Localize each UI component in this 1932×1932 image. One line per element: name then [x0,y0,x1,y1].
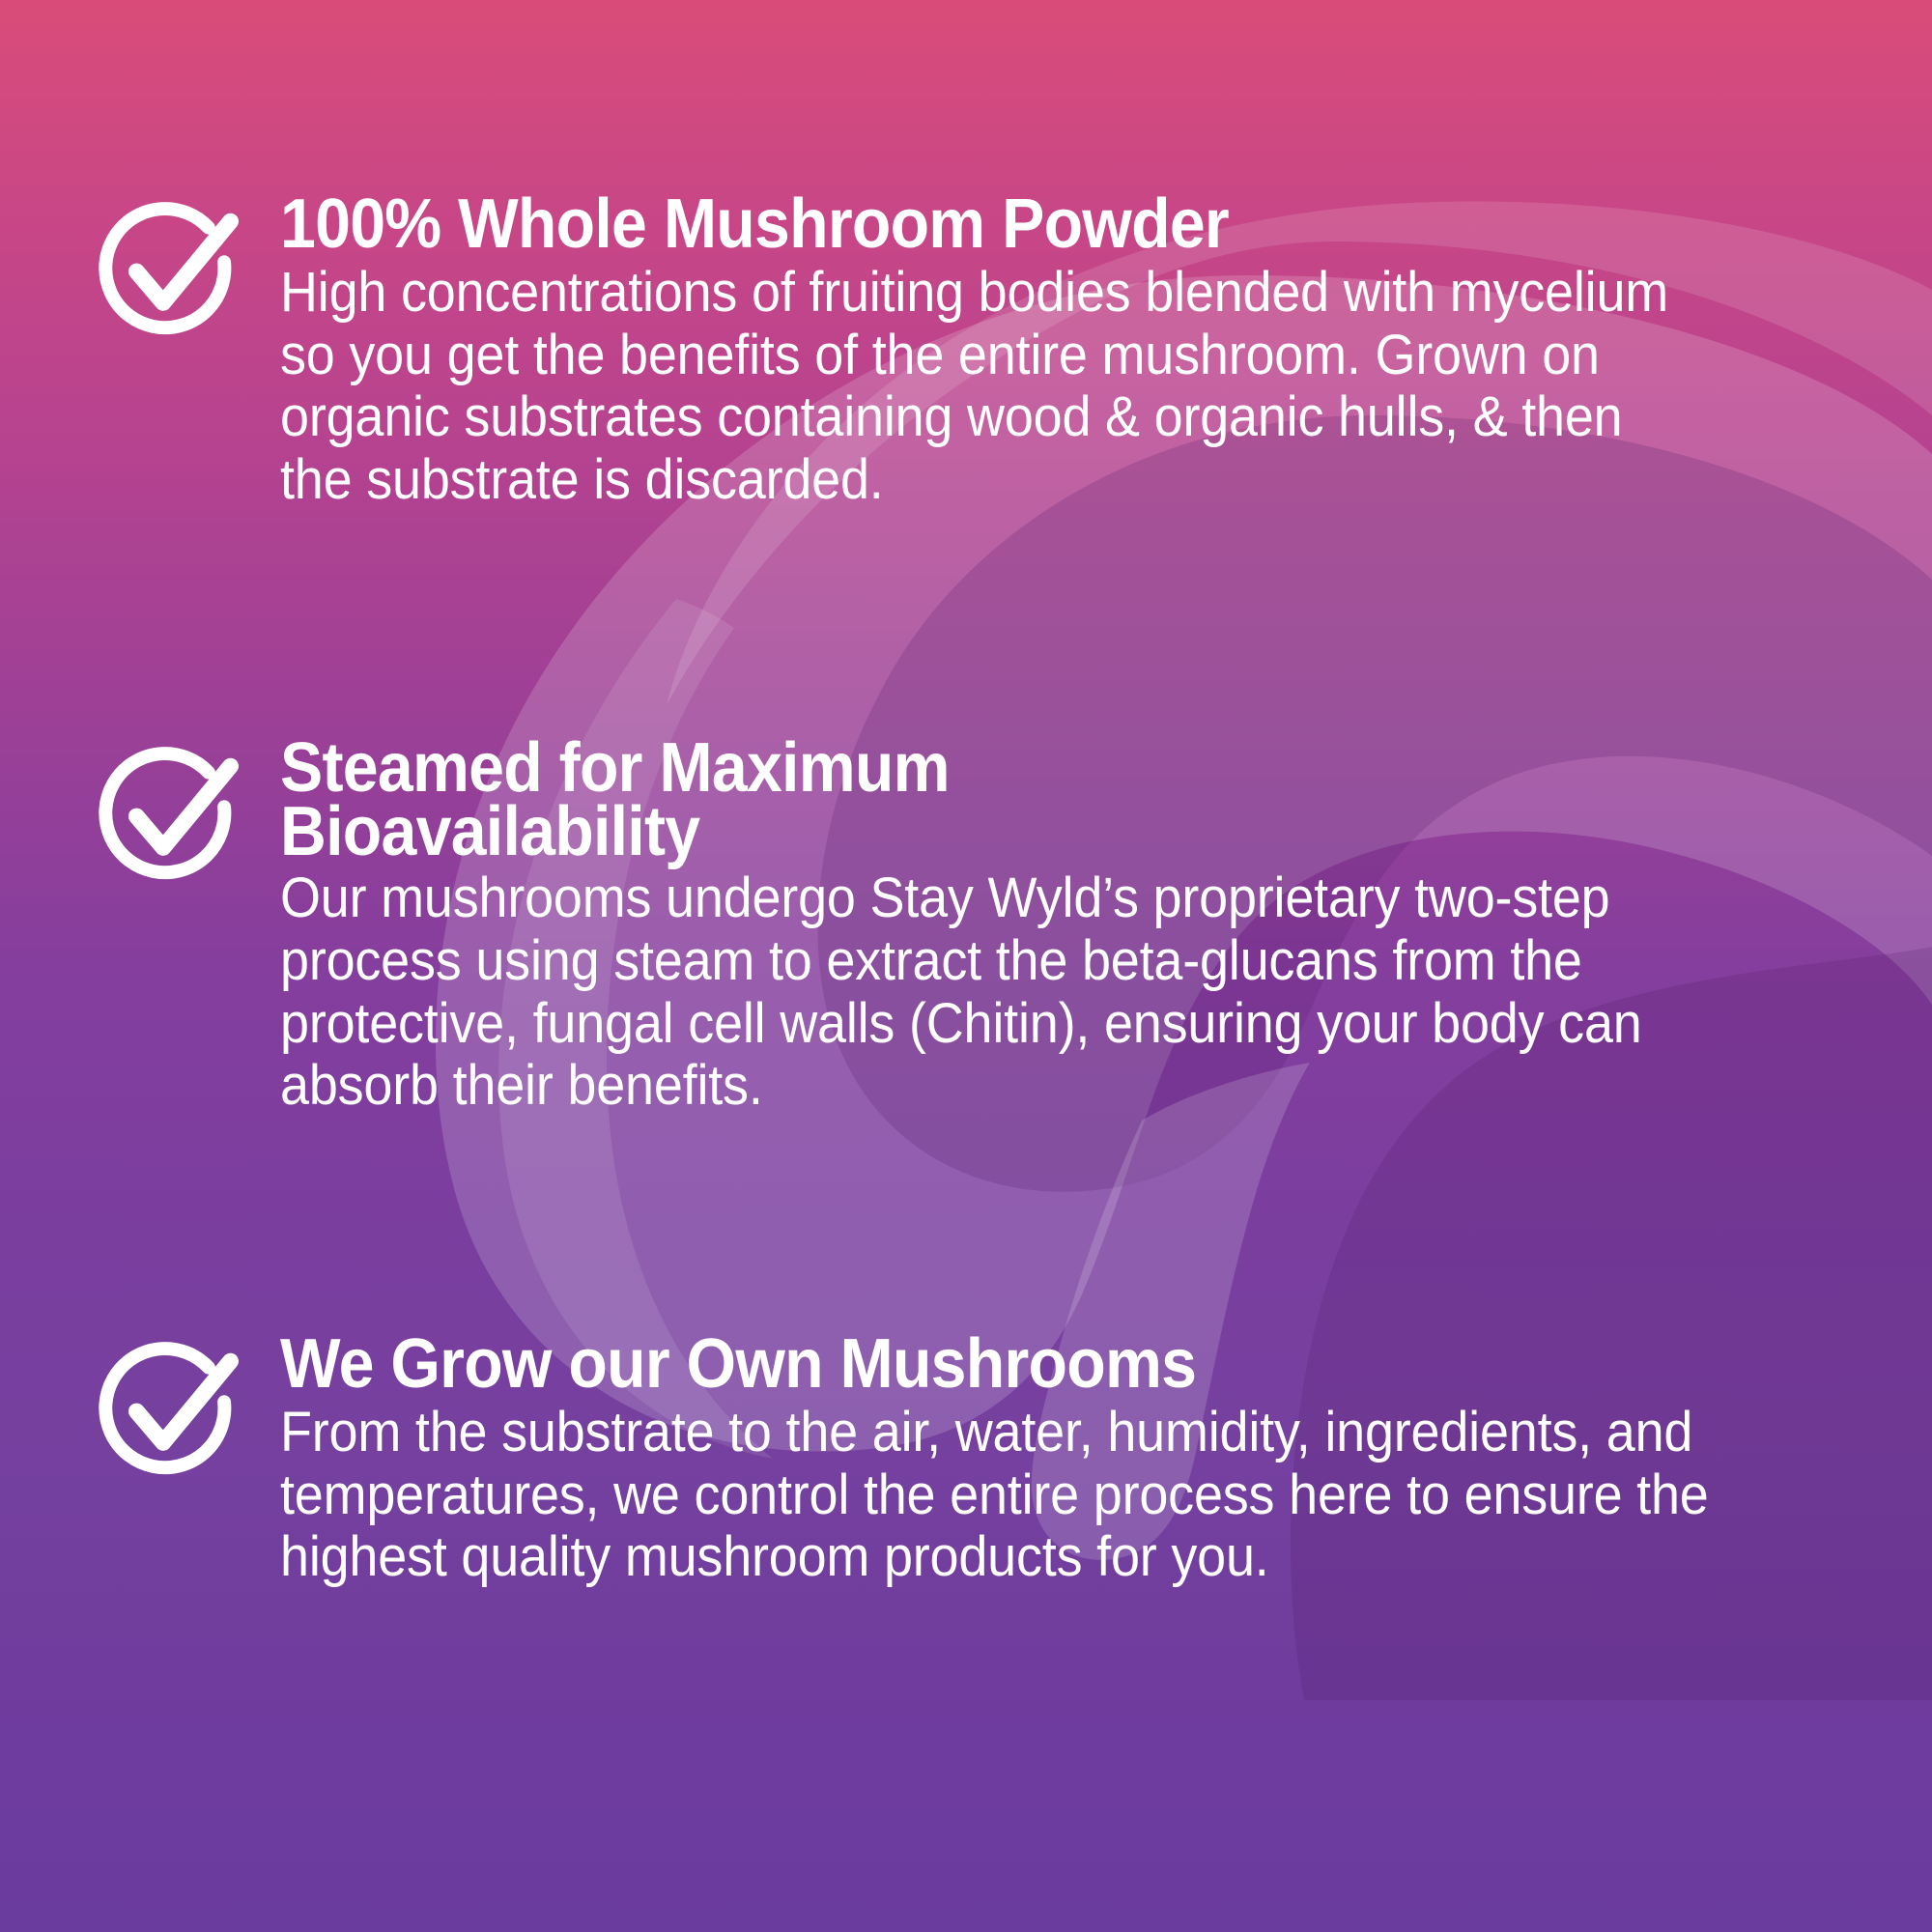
feature-1-heading: 100% Whole Mushroom Powder [280,191,1693,258]
check-circle-icon-1-wrap [93,189,267,350]
feature-3-text: We Grow our Own Mushrooms From the subst… [280,1329,1816,1589]
feature-block-3: We Grow our Own Mushrooms From the subst… [93,1329,1816,1589]
check-circle-icon-2-wrap [93,734,267,895]
feature-block-1: 100% Whole Mushroom Powder High concentr… [93,189,1816,512]
feature-1-text: 100% Whole Mushroom Powder High concentr… [280,189,1816,512]
feature-block-2: Steamed for Maximum Bioavailability Our … [93,734,1816,1118]
features-content: 100% Whole Mushroom Powder High concentr… [0,0,1932,1932]
check-circle-icon [93,738,249,895]
feature-1-body: High concentrations of fruiting bodies b… [280,262,1709,512]
feature-3-heading: We Grow our Own Mushrooms [280,1331,1693,1398]
marketing-poster: 100% Whole Mushroom Powder High concentr… [0,0,1932,1932]
feature-2-text: Steamed for Maximum Bioavailability Our … [280,734,1816,1118]
check-circle-icon [93,1333,249,1490]
check-circle-icon [93,193,249,350]
feature-2-body: Our mushrooms undergo Stay Wyld’s propri… [280,867,1709,1118]
feature-2-heading: Steamed for Maximum Bioavailability [280,736,1693,864]
check-circle-icon-3-wrap [93,1329,267,1490]
feature-3-body: From the substrate to the air, water, hu… [280,1402,1709,1589]
